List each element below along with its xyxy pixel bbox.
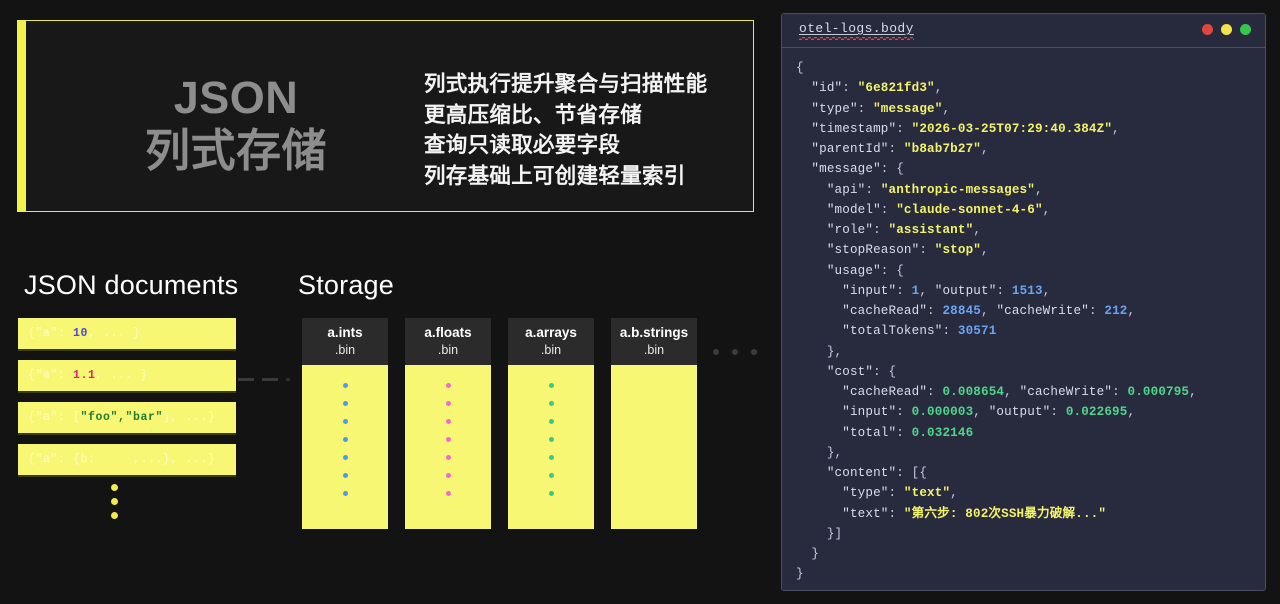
hero-bullet-4: 列存基础上可创建轻量索引	[424, 161, 707, 192]
storage-column-name: a.b.strings	[611, 326, 697, 341]
doc-row-value: 10	[73, 327, 88, 340]
storage-column-file[interactable]: a.floats.bin	[405, 318, 491, 529]
storage-column-extension: .bin	[302, 341, 388, 360]
doc-row-prefix: {"a": [	[28, 411, 81, 424]
doc-row-prefix: {"a":	[28, 369, 73, 382]
storage-column-name: a.ints	[302, 326, 388, 341]
storage-value-dot	[549, 419, 554, 424]
storage-column-file[interactable]: a.ints.bin	[302, 318, 388, 529]
storage-value-dot	[446, 419, 451, 424]
storage-heading: Storage	[298, 270, 394, 301]
doc-row-value: 1.1	[73, 369, 96, 382]
ellipsis-dot	[111, 512, 118, 519]
storage-value-dot	[446, 455, 451, 460]
storage-value-dot	[549, 437, 554, 442]
storage-more-columns-icon	[713, 349, 757, 355]
json-document-row: {"a": {b: ,...}, ...}	[18, 444, 236, 477]
documents-ellipsis-icon	[111, 484, 118, 519]
hero-title: JSON 列式存储	[86, 71, 386, 177]
json-document-row: {"a": 10, ... }	[18, 318, 236, 351]
code-viewer-window: otel-logs.body { "id": "6e821fd3", "type…	[781, 13, 1266, 591]
storage-column-body	[611, 365, 697, 529]
storage-value-dot	[549, 401, 554, 406]
json-document-row: {"a": 1.1, ... }	[18, 360, 236, 393]
json-documents-heading: JSON documents	[24, 270, 238, 301]
dash-segment	[286, 378, 290, 381]
storage-column-header: a.b.strings.bin	[611, 318, 697, 365]
storage-column-name: a.floats	[405, 326, 491, 341]
doc-row-prefix: {"a": {b:	[28, 453, 96, 466]
hero-bullet-1: 列式执行提升聚合与扫描性能	[424, 69, 707, 100]
storage-value-dot	[549, 383, 554, 388]
ellipsis-dot	[713, 349, 719, 355]
storage-column-body	[508, 365, 594, 529]
ellipsis-dot	[111, 484, 118, 491]
storage-value-dot	[343, 473, 348, 478]
storage-column-header: a.ints.bin	[302, 318, 388, 365]
storage-value-dot	[343, 383, 348, 388]
storage-value-dot	[446, 473, 451, 478]
storage-column-header: a.floats.bin	[405, 318, 491, 365]
storage-column-values	[302, 383, 388, 496]
dashed-connector-arrow	[238, 378, 296, 381]
storage-column-header: a.arrays.bin	[508, 318, 594, 365]
storage-column-body	[405, 365, 491, 529]
code-window-title: otel-logs.body	[799, 21, 914, 36]
minimize-icon[interactable]	[1221, 24, 1232, 35]
json-code-content[interactable]: { "id": "6e821fd3", "type": "message", "…	[782, 47, 1265, 590]
ellipsis-dot	[751, 349, 757, 355]
json-document-row: {"a": ["foo","bar"], ...}	[18, 402, 236, 435]
hero-title-line1: JSON	[86, 71, 386, 124]
hero-bullet-list: 列式执行提升聚合与扫描性能 更高压缩比、节省存储 查询只读取必要字段 列存基础上…	[424, 69, 707, 191]
storage-columns: a.ints.bina.floats.bina.arrays.bina.b.st…	[302, 318, 697, 529]
storage-value-dot	[343, 437, 348, 442]
dash-segment	[238, 378, 254, 381]
storage-value-dot	[549, 491, 554, 496]
doc-row-value: "foo","bar"	[81, 411, 164, 424]
storage-column-extension: .bin	[405, 341, 491, 360]
slide-panel: JSON 列式存储 列式执行提升聚合与扫描性能 更高压缩比、节省存储 查询只读取…	[0, 0, 772, 604]
storage-value-dot	[446, 437, 451, 442]
storage-value-dot	[343, 401, 348, 406]
storage-value-dot	[343, 491, 348, 496]
doc-row-suffix: ,...}, ...}	[96, 453, 216, 466]
ellipsis-dot	[111, 498, 118, 505]
hero-bullet-3: 查询只读取必要字段	[424, 130, 707, 161]
dash-segment	[262, 378, 278, 381]
hero-banner: JSON 列式存储 列式执行提升聚合与扫描性能 更高压缩比、节省存储 查询只读取…	[17, 20, 754, 212]
storage-value-dot	[343, 419, 348, 424]
storage-value-dot	[446, 401, 451, 406]
storage-value-dot	[549, 473, 554, 478]
hero-title-line2: 列式存储	[86, 124, 386, 177]
storage-value-dot	[446, 491, 451, 496]
json-documents-list: {"a": 10, ... }{"a": 1.1, ... }{"a": ["f…	[18, 318, 236, 486]
storage-column-name: a.arrays	[508, 326, 594, 341]
storage-column-extension: .bin	[611, 341, 697, 360]
window-controls[interactable]	[1202, 24, 1251, 35]
hero-bullet-2: 更高压缩比、节省存储	[424, 100, 707, 131]
doc-row-prefix: {"a":	[28, 327, 73, 340]
storage-value-dot	[549, 455, 554, 460]
storage-column-values	[508, 383, 594, 496]
maximize-icon[interactable]	[1240, 24, 1251, 35]
storage-value-dot	[343, 455, 348, 460]
close-icon[interactable]	[1202, 24, 1213, 35]
doc-row-suffix: , ... }	[88, 327, 141, 340]
storage-column-body	[302, 365, 388, 529]
storage-column-extension: .bin	[508, 341, 594, 360]
doc-row-suffix: ], ...}	[163, 411, 216, 424]
code-window-titlebar[interactable]: otel-logs.body	[782, 14, 1265, 47]
ellipsis-dot	[732, 349, 738, 355]
doc-row-suffix: , ... }	[96, 369, 149, 382]
storage-column-file[interactable]: a.arrays.bin	[508, 318, 594, 529]
storage-value-dot	[446, 383, 451, 388]
storage-column-values	[405, 383, 491, 496]
storage-column-file[interactable]: a.b.strings.bin	[611, 318, 697, 529]
